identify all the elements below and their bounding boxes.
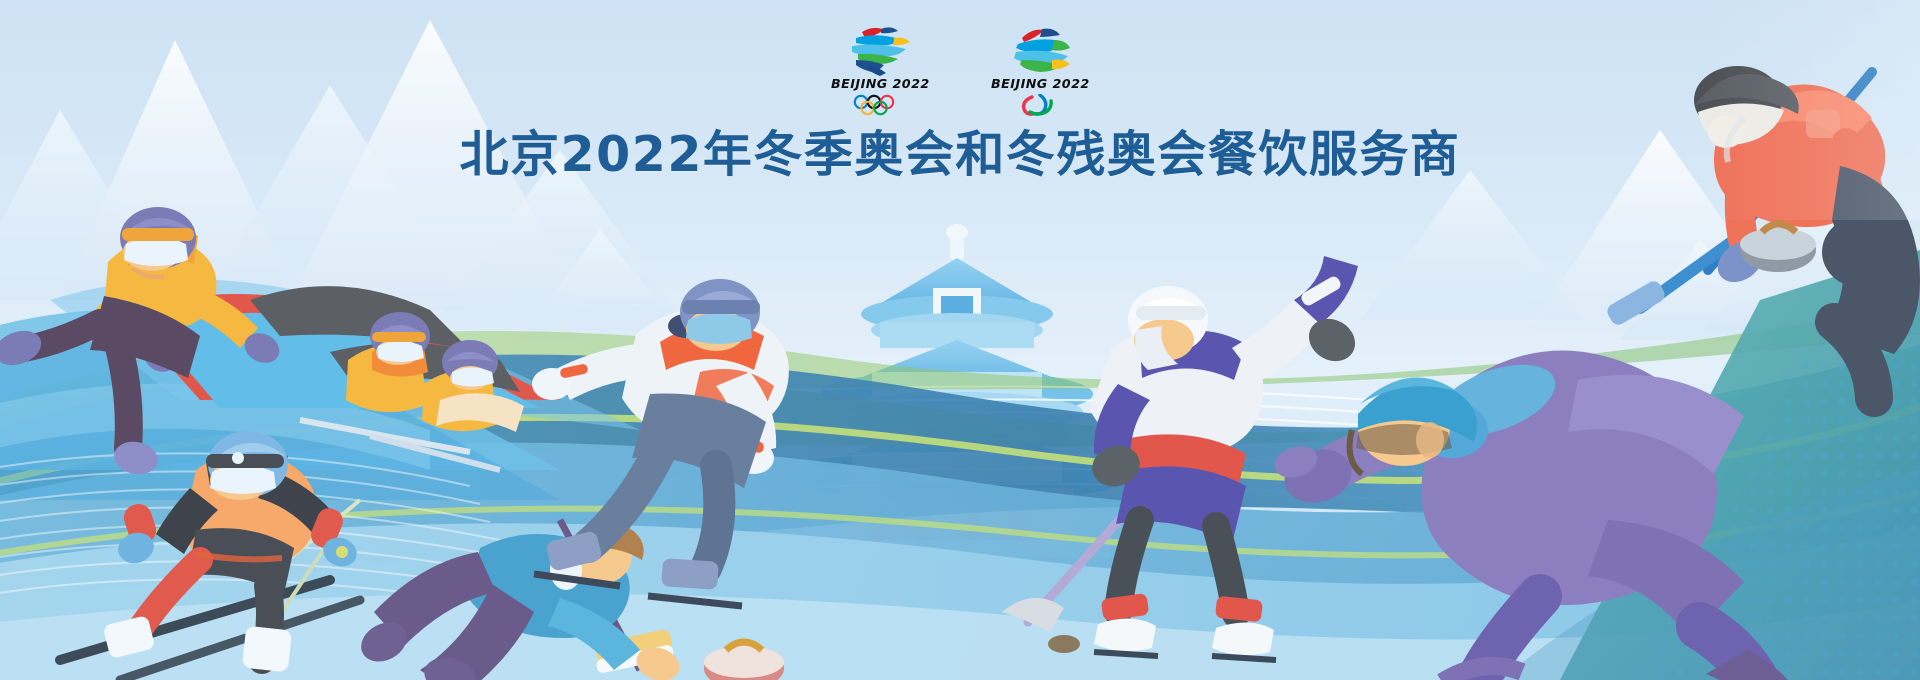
paralympic-agitos-icon	[1010, 94, 1070, 116]
banner-illustration	[0, 0, 1920, 680]
winter-dream-emblem-icon	[832, 22, 928, 76]
olympic-rings-icon	[850, 94, 910, 116]
paralympic-wordmark: BEIJING 2022	[991, 78, 1090, 91]
olympic-wordmark: BEIJING 2022	[831, 78, 930, 91]
olympic-banner: BEIJING 2022 B	[0, 0, 1920, 680]
olympic-emblem-block[interactable]: BEIJING 2022	[821, 22, 939, 116]
paralympic-emblem-block[interactable]: BEIJING 2022	[981, 22, 1099, 116]
headline-text: 北京2022年冬季奥会和冬残奥会餐饮服务商	[460, 128, 1461, 183]
flight-emblem-icon	[992, 22, 1088, 76]
